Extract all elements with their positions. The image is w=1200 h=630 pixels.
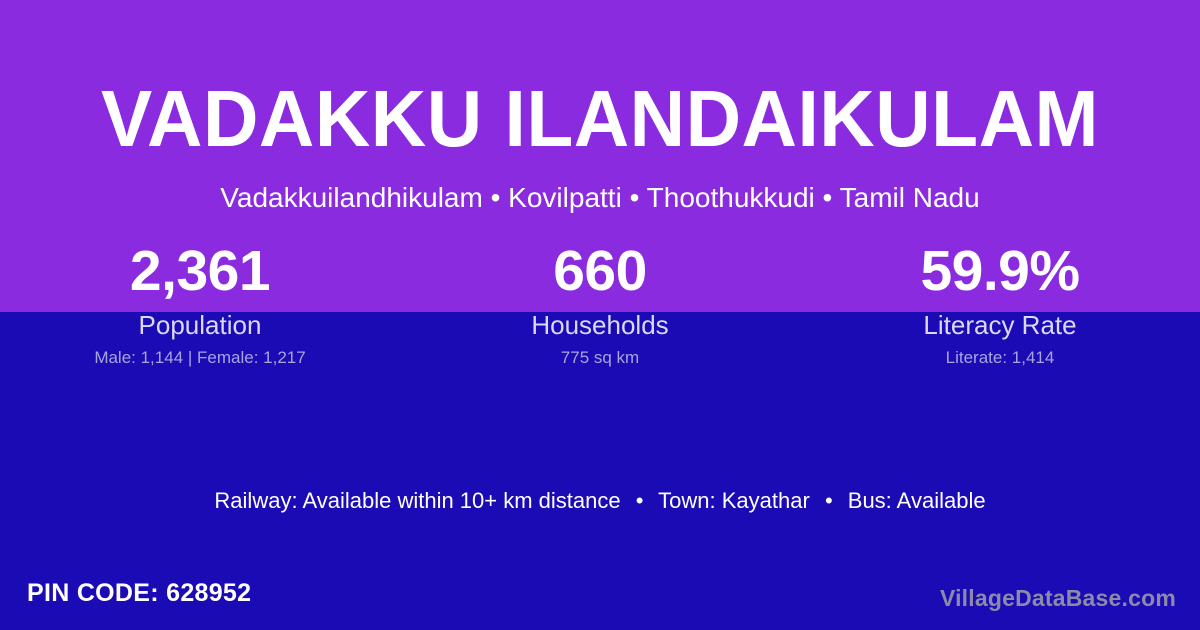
stat-population: 2,361 Population Male: 1,144 | Female: 1… <box>0 238 400 368</box>
facility-town: Town: Kayathar <box>658 488 810 513</box>
stat-sub-population: Male: 1,144 | Female: 1,217 <box>0 348 400 368</box>
stat-households: 660 Households 775 sq km <box>400 238 800 368</box>
stat-sub-literacy-rate: Literate: 1,414 <box>800 348 1200 368</box>
page-title: VADAKKU ILANDAIKULAM <box>24 76 1176 162</box>
stat-label-literacy-rate: Literacy Rate <box>800 310 1200 340</box>
stat-value-literacy-rate: 59.9% <box>800 238 1200 304</box>
facility-railway: Railway: Available within 10+ km distanc… <box>214 488 620 513</box>
site-watermark: VillageDataBase.com <box>940 584 1176 612</box>
stat-value-population: 2,361 <box>0 238 400 304</box>
facility-bus: Bus: Available <box>848 488 986 513</box>
facilities-row: Railway: Available within 10+ km distanc… <box>0 487 1200 515</box>
facility-separator-dot: • <box>627 487 653 515</box>
stat-sub-households: 775 sq km <box>400 348 800 368</box>
stat-literacy-rate: 59.9% Literacy Rate Literate: 1,414 <box>800 238 1200 368</box>
facility-separator-dot: • <box>816 487 842 515</box>
stat-label-households: Households <box>400 310 800 340</box>
stat-label-population: Population <box>0 310 400 340</box>
stat-value-households: 660 <box>400 238 800 304</box>
village-info-card: VADAKKU ILANDAIKULAM Vadakkuilandhikulam… <box>0 0 1200 630</box>
stats-row: 2,361 Population Male: 1,144 | Female: 1… <box>0 238 1200 368</box>
pin-code-label: PIN CODE: 628952 <box>27 578 251 608</box>
breadcrumb: Vadakkuilandhikulam • Kovilpatti • Thoot… <box>0 181 1200 215</box>
